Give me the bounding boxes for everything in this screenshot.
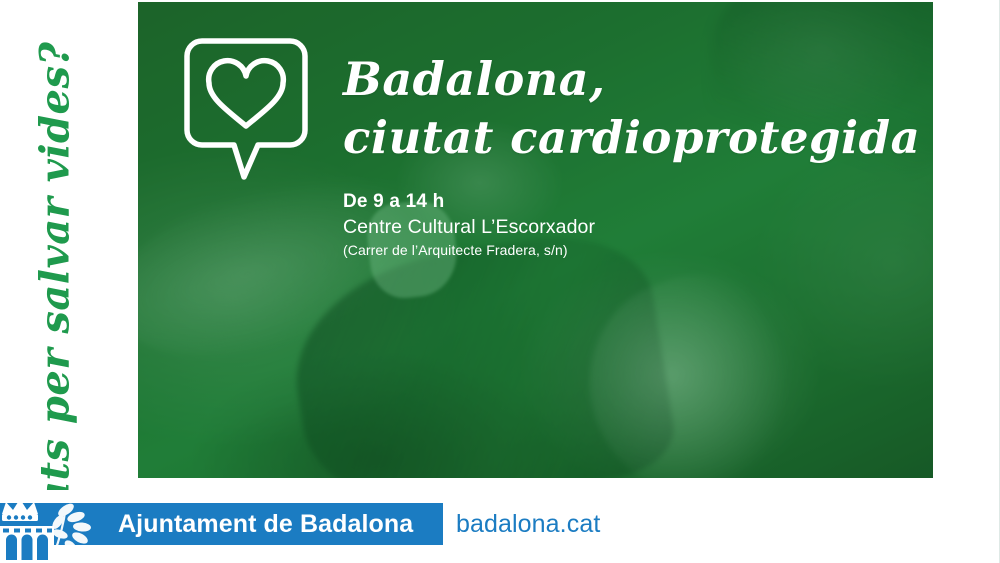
footer-organization-name: Ajuntament de Badalona — [118, 509, 413, 539]
footer: Ajuntament de Badalona badalona.cat — [0, 490, 999, 563]
poster-canvas: Preparats per salvar vides? Badalona, ci… — [0, 0, 1000, 563]
slogan-area: Preparats per salvar vides? — [0, 0, 138, 490]
headline-line-2: ciutat cardioprotegida — [343, 109, 903, 167]
event-details-block: De 9 a 14 h Centre Cultural L’Escorxador… — [343, 190, 863, 261]
footer-website-link[interactable]: badalona.cat — [456, 509, 600, 539]
hero-photo-panel: Badalona, ciutat cardioprotegida De 9 a … — [138, 2, 933, 478]
event-hours: De 9 a 14 h — [343, 190, 863, 215]
headline-line-1: Badalona, — [343, 50, 903, 109]
event-venue: Centre Cultural L’Escorxador — [343, 215, 863, 241]
heart-speech-bubble-icon — [184, 38, 308, 188]
event-address: (Carrer de l’Arquitecte Fradera, s/n) — [343, 240, 863, 261]
headline-block: Badalona, ciutat cardioprotegida — [343, 50, 903, 166]
badalona-coat-of-arms-icon — [0, 494, 104, 560]
